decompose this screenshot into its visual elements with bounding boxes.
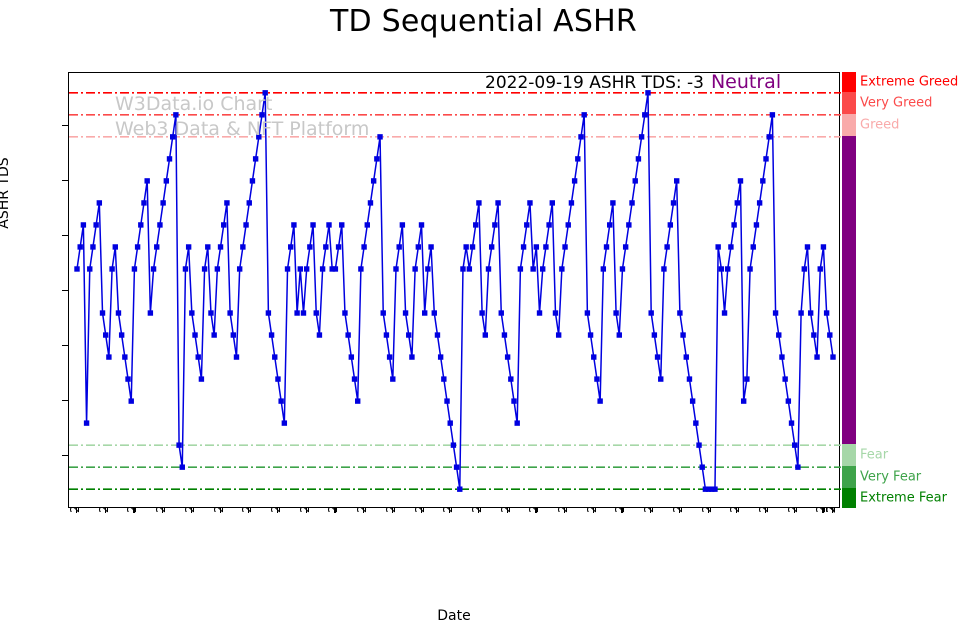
data-point-marker <box>294 310 299 315</box>
data-point-marker <box>381 310 386 315</box>
data-point-marker <box>263 90 268 95</box>
data-point-marker <box>93 222 98 227</box>
data-point-marker <box>97 200 102 205</box>
data-point-marker <box>617 332 622 337</box>
data-point-marker <box>151 266 156 271</box>
data-point-marker <box>180 464 185 469</box>
data-point-marker <box>406 332 411 337</box>
data-point-marker <box>173 112 178 117</box>
data-point-marker <box>81 222 86 227</box>
data-point-marker <box>543 244 548 249</box>
data-point-marker <box>648 310 653 315</box>
data-point-marker <box>157 222 162 227</box>
data-point-marker <box>301 310 306 315</box>
data-point-marker <box>355 398 360 403</box>
series-line <box>77 93 833 489</box>
data-point-marker <box>320 266 325 271</box>
colorbar-label-very-fear: Very Fear <box>860 470 921 485</box>
data-point-marker <box>135 244 140 249</box>
data-point-marker <box>620 266 625 271</box>
current-value-annotation: 2022-09-19 ASHR TDS: -3Neutral <box>485 71 781 93</box>
data-point-marker <box>495 200 500 205</box>
data-point-marker <box>167 156 172 161</box>
data-point-marker <box>722 310 727 315</box>
data-point-marker <box>342 310 347 315</box>
data-point-marker <box>384 332 389 337</box>
data-point-marker <box>572 178 577 183</box>
data-point-marker <box>221 222 226 227</box>
data-point-marker <box>642 112 647 117</box>
page-title: TD Sequential ASHR <box>0 4 967 39</box>
data-point-marker <box>508 376 513 381</box>
data-point-marker <box>805 244 810 249</box>
data-point-marker <box>693 420 698 425</box>
data-point-marker <box>278 398 283 403</box>
data-point-marker <box>830 354 835 359</box>
data-point-marker <box>438 354 443 359</box>
data-point-marker <box>189 310 194 315</box>
data-point-marker <box>562 244 567 249</box>
data-point-marker <box>361 244 366 249</box>
data-point-marker <box>795 464 800 469</box>
data-point-marker <box>633 178 638 183</box>
data-point-marker <box>422 310 427 315</box>
data-point-marker <box>792 442 797 447</box>
plot-area: W3Data.io Chart Web3 Data & NFT Platform… <box>68 72 840 508</box>
data-point-marker <box>827 332 832 337</box>
data-point-marker <box>333 266 338 271</box>
data-point-marker <box>467 266 472 271</box>
data-point-marker <box>454 464 459 469</box>
data-point-marker <box>160 200 165 205</box>
data-point-marker <box>700 464 705 469</box>
data-point-marker <box>199 376 204 381</box>
data-point-marker <box>470 244 475 249</box>
data-point-marker <box>770 112 775 117</box>
data-point-marker <box>285 266 290 271</box>
data-point-marker <box>374 156 379 161</box>
data-point-marker <box>412 266 417 271</box>
data-point-marker <box>674 178 679 183</box>
data-point-marker <box>282 420 287 425</box>
data-point-marker <box>489 244 494 249</box>
data-point-marker <box>183 266 188 271</box>
data-point-marker <box>132 266 137 271</box>
data-point-marker <box>240 244 245 249</box>
data-point-marker <box>553 310 558 315</box>
data-point-marker <box>687 376 692 381</box>
data-point-marker <box>444 398 449 403</box>
data-point-marker <box>591 354 596 359</box>
chart-figure: TD Sequential ASHR ASHR TDS Date 7.55.02… <box>0 0 967 633</box>
data-point-marker <box>435 332 440 337</box>
data-point-marker <box>623 244 628 249</box>
data-point-marker <box>448 420 453 425</box>
data-point-marker <box>594 376 599 381</box>
data-point-marker <box>113 244 118 249</box>
data-point-marker <box>377 134 382 139</box>
data-point-marker <box>345 332 350 337</box>
data-point-marker <box>371 178 376 183</box>
data-point-marker <box>237 266 242 271</box>
data-point-marker <box>250 178 255 183</box>
data-point-marker <box>690 398 695 403</box>
data-point-marker <box>218 244 223 249</box>
data-point-marker <box>227 310 232 315</box>
data-point-marker <box>148 310 153 315</box>
data-point-marker <box>304 266 309 271</box>
data-point-marker <box>811 332 816 337</box>
data-point-marker <box>247 200 252 205</box>
data-point-marker <box>527 200 532 205</box>
data-point-marker <box>253 156 258 161</box>
x-axis-label: Date <box>0 608 908 624</box>
data-point-marker <box>578 134 583 139</box>
data-point-marker <box>537 310 542 315</box>
colorbar-label-fear: Fear <box>860 448 888 463</box>
data-point-marker <box>479 310 484 315</box>
data-point-marker <box>741 398 746 403</box>
data-point-marker <box>266 310 271 315</box>
data-point-marker <box>511 398 516 403</box>
colorbar-label-greed: Greed <box>860 117 899 132</box>
data-point-marker <box>393 266 398 271</box>
data-point-marker <box>460 266 465 271</box>
data-point-marker <box>269 332 274 337</box>
data-point-marker <box>432 310 437 315</box>
data-point-marker <box>610 200 615 205</box>
data-point-marker <box>814 354 819 359</box>
data-point-marker <box>684 354 689 359</box>
data-point-marker <box>368 200 373 205</box>
data-point-marker <box>196 354 201 359</box>
data-point-marker <box>352 376 357 381</box>
data-point-marker <box>100 310 105 315</box>
data-point-marker <box>661 266 666 271</box>
colorbar-segment-very-fear <box>842 466 856 488</box>
data-point-marker <box>636 156 641 161</box>
data-point-marker <box>170 134 175 139</box>
data-point-marker <box>613 310 618 315</box>
data-point-marker <box>751 244 756 249</box>
data-point-marker <box>556 332 561 337</box>
colorbar-segment-greed <box>842 114 856 136</box>
data-point-marker <box>808 310 813 315</box>
data-point-marker <box>754 222 759 227</box>
data-point-marker <box>90 244 95 249</box>
data-point-marker <box>125 376 130 381</box>
data-point-marker <box>486 266 491 271</box>
data-point-marker <box>234 354 239 359</box>
data-point-marker <box>786 398 791 403</box>
data-point-marker <box>416 244 421 249</box>
data-point-marker <box>696 442 701 447</box>
data-point-marker <box>782 376 787 381</box>
data-point-marker <box>349 354 354 359</box>
data-point-marker <box>798 310 803 315</box>
data-point-marker <box>760 178 765 183</box>
data-point-marker <box>530 266 535 271</box>
data-point-marker <box>138 222 143 227</box>
data-point-marker <box>288 244 293 249</box>
data-point-marker <box>483 332 488 337</box>
data-point-marker <box>74 266 79 271</box>
data-point-marker <box>559 266 564 271</box>
data-point-marker <box>757 200 762 205</box>
data-point-marker <box>208 310 213 315</box>
data-point-marker <box>463 244 468 249</box>
data-point-marker <box>307 244 312 249</box>
data-point-marker <box>629 200 634 205</box>
data-point-marker <box>310 222 315 227</box>
data-point-marker <box>569 200 574 205</box>
data-point-marker <box>499 310 504 315</box>
data-point-marker <box>731 222 736 227</box>
data-point-marker <box>581 112 586 117</box>
data-point-marker <box>550 200 555 205</box>
data-point-marker <box>776 332 781 337</box>
data-point-marker <box>387 354 392 359</box>
colorbar-segment-very-greed <box>842 92 856 114</box>
data-point-marker <box>326 222 331 227</box>
data-point-marker <box>652 332 657 337</box>
data-point-marker <box>275 376 280 381</box>
data-point-marker <box>607 222 612 227</box>
data-point-marker <box>176 442 181 447</box>
data-point-marker <box>767 134 772 139</box>
sentiment-colorbar <box>842 72 856 508</box>
data-point-marker <box>725 266 730 271</box>
data-point-marker <box>671 200 676 205</box>
data-point-marker <box>390 376 395 381</box>
data-point-marker <box>492 222 497 227</box>
data-point-marker <box>664 244 669 249</box>
data-point-marker <box>317 332 322 337</box>
data-point-marker <box>87 266 92 271</box>
data-point-marker <box>119 332 124 337</box>
data-point-marker <box>291 222 296 227</box>
data-point-marker <box>735 200 740 205</box>
data-point-marker <box>224 200 229 205</box>
data-point-marker <box>103 332 108 337</box>
series-canvas <box>69 73 841 509</box>
data-point-marker <box>789 420 794 425</box>
data-point-marker <box>505 354 510 359</box>
colorbar-segment-neutral <box>842 136 856 444</box>
data-point-marker <box>744 376 749 381</box>
data-point-marker <box>144 178 149 183</box>
colorbar-segment-fear <box>842 444 856 466</box>
data-point-marker <box>129 398 134 403</box>
data-point-marker <box>441 376 446 381</box>
data-point-marker <box>601 266 606 271</box>
data-point-marker <box>122 354 127 359</box>
data-point-marker <box>205 244 210 249</box>
data-point-marker <box>524 222 529 227</box>
data-point-marker <box>164 178 169 183</box>
data-point-marker <box>518 266 523 271</box>
data-point-marker <box>534 244 539 249</box>
data-point-marker <box>256 134 261 139</box>
data-point-marker <box>668 222 673 227</box>
colorbar-segment-extreme-fear <box>842 488 856 508</box>
data-point-marker <box>779 354 784 359</box>
data-point-marker <box>336 244 341 249</box>
data-point-marker <box>243 222 248 227</box>
data-point-marker <box>715 244 720 249</box>
data-point-marker <box>109 266 114 271</box>
data-point-marker <box>396 244 401 249</box>
data-point-marker <box>747 266 752 271</box>
data-point-marker <box>272 354 277 359</box>
colorbar-label-very-greed: Very Greed <box>860 95 932 110</box>
data-point-marker <box>585 310 590 315</box>
data-point-marker <box>719 266 724 271</box>
data-point-marker <box>658 376 663 381</box>
data-point-marker <box>314 310 319 315</box>
data-point-marker <box>84 420 89 425</box>
data-point-marker <box>546 222 551 227</box>
data-point-marker <box>425 266 430 271</box>
data-point-marker <box>403 310 408 315</box>
data-point-marker <box>400 222 405 227</box>
y-axis-label: ASHR TDS <box>0 133 12 253</box>
data-point-marker <box>639 134 644 139</box>
data-point-marker <box>728 244 733 249</box>
colorbar-label-extreme-greed: Extreme Greed <box>860 74 958 89</box>
data-point-marker <box>116 310 121 315</box>
data-point-marker <box>763 156 768 161</box>
data-point-marker <box>604 244 609 249</box>
data-point-marker <box>154 244 159 249</box>
data-point-marker <box>428 244 433 249</box>
data-point-marker <box>141 200 146 205</box>
data-point-marker <box>473 222 478 227</box>
data-point-marker <box>502 332 507 337</box>
data-point-marker <box>409 354 414 359</box>
colorbar-segment-extreme-greed <box>842 72 856 92</box>
data-point-marker <box>186 244 191 249</box>
data-point-marker <box>712 486 717 491</box>
data-point-marker <box>521 244 526 249</box>
annotation-text: 2022-09-19 ASHR TDS: -3 <box>485 73 704 93</box>
data-point-marker <box>626 222 631 227</box>
data-point-marker <box>451 442 456 447</box>
data-point-marker <box>215 266 220 271</box>
data-point-marker <box>259 112 264 117</box>
data-point-marker <box>802 266 807 271</box>
data-point-marker <box>515 420 520 425</box>
data-point-marker <box>77 244 82 249</box>
data-point-marker <box>588 332 593 337</box>
data-point-marker <box>192 332 197 337</box>
data-point-marker <box>738 178 743 183</box>
data-point-marker <box>323 244 328 249</box>
data-point-marker <box>818 266 823 271</box>
data-point-marker <box>773 310 778 315</box>
data-point-marker <box>680 332 685 337</box>
colorbar-label-extreme-fear: Extreme Fear <box>860 491 947 506</box>
data-point-marker <box>824 310 829 315</box>
data-point-marker <box>211 332 216 337</box>
data-point-marker <box>476 200 481 205</box>
data-point-marker <box>365 222 370 227</box>
data-point-marker <box>457 486 462 491</box>
data-point-marker <box>358 266 363 271</box>
data-point-marker <box>677 310 682 315</box>
data-point-marker <box>298 266 303 271</box>
data-point-marker <box>597 398 602 403</box>
data-point-marker <box>339 222 344 227</box>
sentiment-badge: Neutral <box>711 71 781 93</box>
data-point-marker <box>419 222 424 227</box>
data-point-marker <box>575 156 580 161</box>
data-point-marker <box>821 244 826 249</box>
data-point-marker <box>566 222 571 227</box>
data-point-marker <box>202 266 207 271</box>
data-point-marker <box>231 332 236 337</box>
data-point-marker <box>106 354 111 359</box>
data-point-marker <box>655 354 660 359</box>
data-point-marker <box>540 266 545 271</box>
